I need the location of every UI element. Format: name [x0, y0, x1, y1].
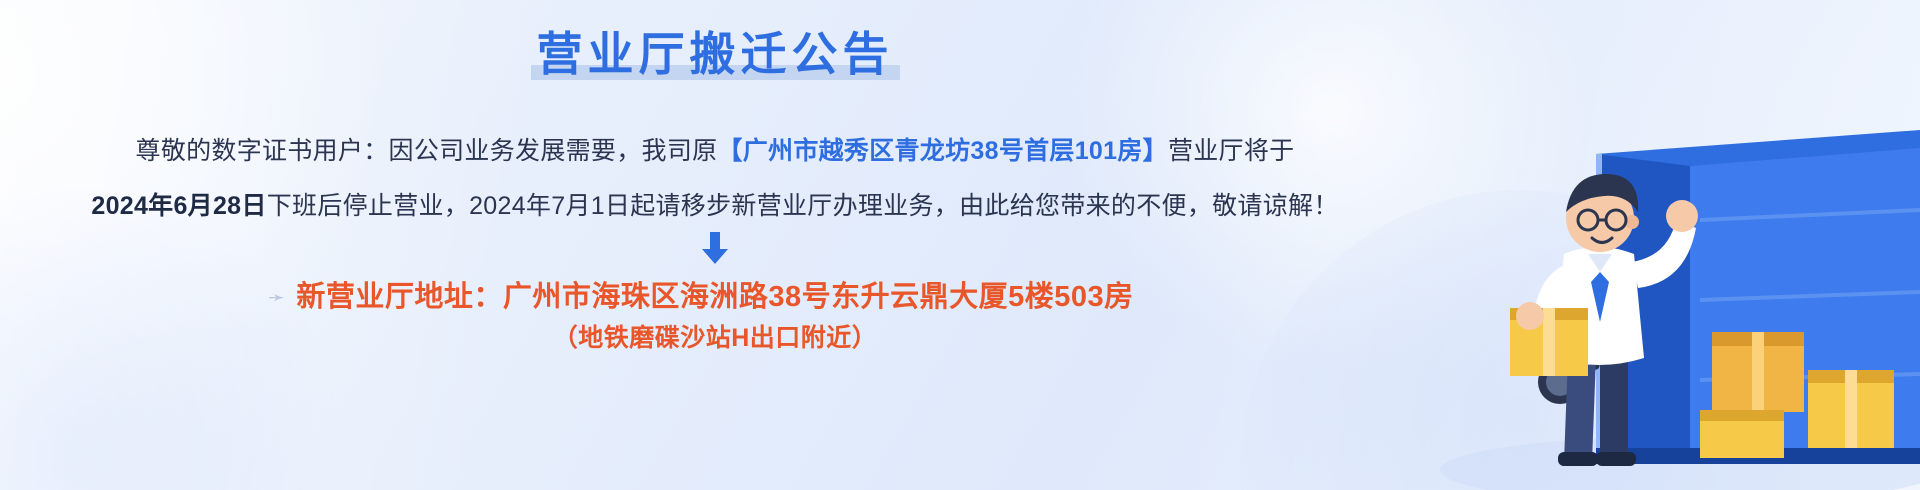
closing-date-bold: 2024年6月28日: [91, 192, 266, 220]
old-address-highlight: 【广州市越秀区青龙坊38号首层101房】: [717, 137, 1168, 165]
new-address-text: 新营业厅地址：广州市海珠区海洲路38号东升云鼎大厦5楼503房: [0, 273, 1430, 315]
announcement-banner: 营业厅搬迁公告 尊敬的数字证书用户：因公司业务发展需要，我司原【广州市越秀区青龙…: [0, 0, 1920, 490]
body-line-1: 尊敬的数字证书用户：因公司业务发展需要，我司原【广州市越秀区青龙坊38号首层10…: [0, 133, 1430, 171]
announcement-content: 营业厅搬迁公告 尊敬的数字证书用户：因公司业务发展需要，我司原【广州市越秀区青龙…: [0, 0, 1430, 490]
page-title: 营业厅搬迁公告: [531, 28, 900, 81]
title-container: 营业厅搬迁公告: [0, 28, 1430, 81]
down-arrow-icon: [697, 232, 733, 266]
moving-illustration: [1360, 70, 1920, 490]
mover-hand-icon: [1666, 200, 1698, 232]
title-text: 营业厅搬迁公告: [537, 28, 894, 80]
new-address-note-text: （地铁磨碟沙站H出口附近）: [0, 318, 1430, 354]
body-line-1-segment-3: 营业厅将于: [1168, 137, 1295, 165]
body-line-2: 2024年6月28日下班后停止营业，2024年7月1日起请移步新营业厅办理业务，…: [0, 188, 1430, 226]
body-line-1-segment-1: 尊敬的数字证书用户：因公司业务发展需要，我司原: [136, 137, 718, 165]
body-line-2-segment-2: 下班后停止营业，2024年7月1日起请移步新营业厅办理业务，由此给您带来的不便，…: [267, 192, 1339, 220]
down-arrow-container: [0, 232, 1430, 266]
